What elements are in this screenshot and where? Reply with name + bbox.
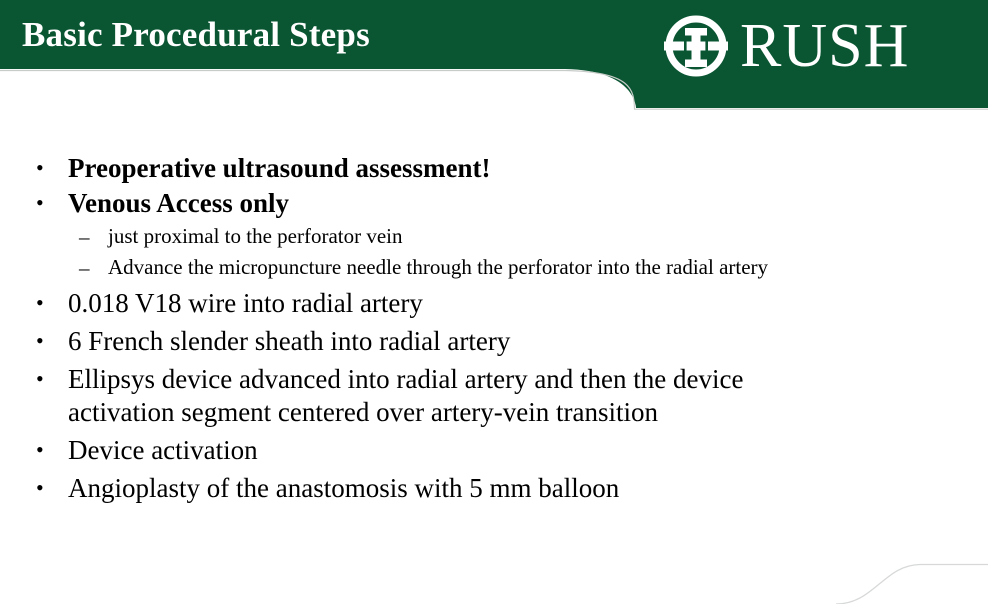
list-item-text: Preoperative ultrasound assessment!	[68, 152, 808, 185]
sub-list-item-text: just proximal to the perforator vein	[108, 223, 803, 249]
rush-wordmark: RUSH	[740, 15, 909, 77]
list-item: • Device activation	[0, 434, 988, 467]
bullet-marker: •	[36, 364, 44, 394]
list-item-text: Ellipsys device advanced into radial art…	[68, 363, 808, 429]
list-item: • Preoperative ultrasound assessment!	[0, 152, 988, 185]
bullet-marker: •	[36, 326, 44, 356]
page-title: Basic Procedural Steps	[22, 12, 582, 62]
sub-list-item: – Advance the micropuncture needle throu…	[0, 254, 988, 280]
footer-swoosh-decoration	[0, 534, 988, 604]
bullet-marker: •	[36, 288, 44, 318]
rush-logo: RUSH	[664, 14, 909, 78]
bullet-marker: •	[36, 435, 44, 465]
sub-list-item: – just proximal to the perforator vein	[0, 223, 988, 249]
bullet-marker: •	[36, 473, 44, 503]
bullet-marker: •	[36, 188, 44, 218]
list-item-text: 6 French slender sheath into radial arte…	[68, 325, 808, 358]
rush-circle-i-logo-icon	[664, 14, 728, 78]
swoosh-line	[836, 565, 988, 604]
list-item: • 0.018 V18 wire into radial artery	[0, 287, 988, 320]
list-item-text: Venous Access only	[68, 187, 808, 220]
list-item: • Venous Access only	[0, 187, 988, 220]
list-item-text: Angioplasty of the anastomosis with 5 mm…	[68, 472, 808, 505]
bullet-marker: •	[36, 153, 44, 183]
list-item-text: Device activation	[68, 434, 808, 467]
list-item: • 6 French slender sheath into radial ar…	[0, 325, 988, 358]
bullet-marker: –	[79, 255, 90, 281]
slide-canvas: Basic Procedural Steps RUSH • Preoperati…	[0, 0, 988, 604]
list-item: • Ellipsys device advanced into radial a…	[0, 363, 988, 429]
bullet-marker: –	[79, 224, 90, 250]
list-item: • Angioplasty of the anastomosis with 5 …	[0, 472, 988, 505]
list-item-text: 0.018 V18 wire into radial artery	[68, 287, 808, 320]
bullet-list: • Preoperative ultrasound assessment! • …	[0, 152, 988, 505]
sub-list-item-text: Advance the micropuncture needle through…	[108, 254, 803, 280]
